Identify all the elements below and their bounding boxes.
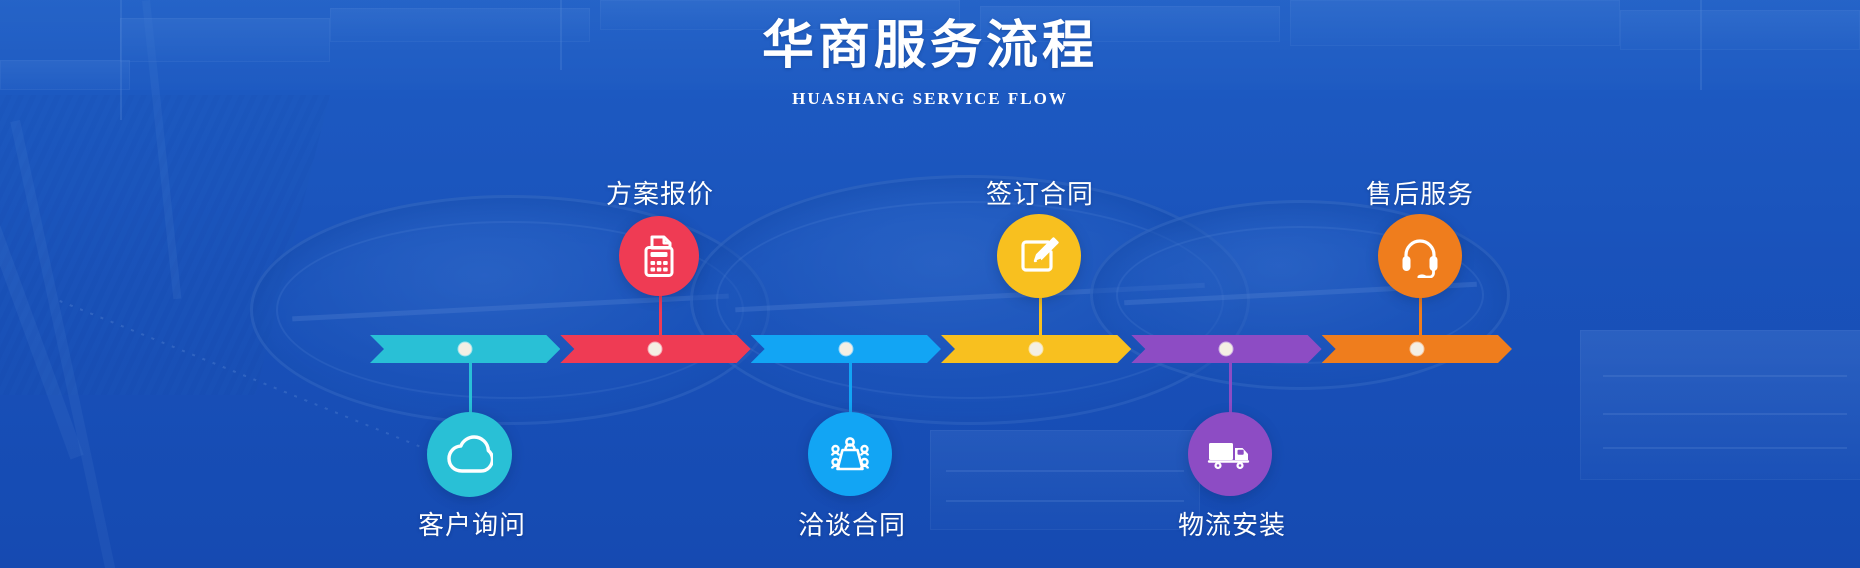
step-label-4: 签订合同 (986, 174, 1094, 211)
pen-sign-icon (1017, 234, 1061, 278)
flow-node-dot (459, 343, 472, 356)
flow-node-dot (1030, 343, 1043, 356)
headset-support-icon (1398, 234, 1442, 278)
flow-segment-1[interactable] (370, 335, 560, 363)
step-label-1: 客户询问 (418, 505, 526, 542)
page-subtitle: HUASHANG SERVICE FLOW (0, 89, 1860, 109)
step-icon-circle-3[interactable] (808, 412, 892, 496)
flow-segment-6[interactable] (1322, 335, 1512, 363)
flow-segment-2[interactable] (560, 335, 750, 363)
service-flow-banner: 华商服务流程 HUASHANG SERVICE FLOW (0, 0, 1860, 568)
flow-node-dot (839, 343, 852, 356)
cloud-chat-icon (447, 435, 493, 475)
step-icon-circle-5[interactable] (1188, 412, 1272, 496)
banner-heading: 华商服务流程 HUASHANG SERVICE FLOW (0, 16, 1860, 109)
step-icon-circle-4[interactable] (997, 214, 1081, 298)
step-label-6: 售后服务 (1366, 174, 1474, 211)
step-label-3: 洽谈合同 (798, 505, 906, 542)
flow-node-dot (1220, 343, 1233, 356)
step-icon-circle-6[interactable] (1378, 214, 1462, 298)
flow-node-dot (1410, 343, 1423, 356)
step-label-5: 物流安装 (1178, 505, 1286, 542)
flow-node-dot (649, 343, 662, 356)
flow-chevron-bar (370, 335, 1512, 363)
flow-segment-4[interactable] (941, 335, 1131, 363)
step-label-2: 方案报价 (606, 174, 714, 211)
page-title: 华商服务流程 (0, 16, 1860, 77)
calculator-quote-icon (639, 234, 679, 278)
step-icon-circle-2[interactable] (619, 216, 699, 296)
delivery-truck-icon (1206, 436, 1254, 472)
meeting-table-icon (827, 433, 873, 475)
flow-segment-5[interactable] (1131, 335, 1321, 363)
step-icon-circle-1[interactable] (427, 412, 512, 497)
flow-segment-3[interactable] (751, 335, 941, 363)
